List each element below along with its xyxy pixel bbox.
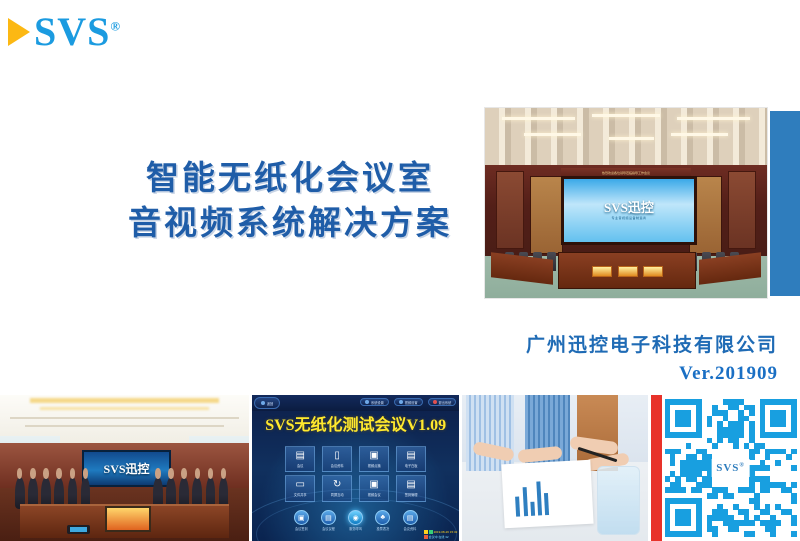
hero-conference-room-image: 热烈欢迎各位领导莅临指导工作会议 SVS迅控 专业音视频设备制造商 xyxy=(484,107,768,299)
ui-tile-label: 视频会议 xyxy=(368,492,381,497)
ui-dock-label: 投票表决 xyxy=(376,526,389,531)
ui-dock-service[interactable]: ◉ 服务呼叫 xyxy=(348,510,363,531)
hero-document-3 xyxy=(643,266,663,278)
document-icon: ▯ xyxy=(334,451,340,461)
ui-dock-vote[interactable]: ♣ 投票表决 xyxy=(375,510,390,531)
ui-dock-label: 服务呼叫 xyxy=(349,526,362,531)
ui-function-grid: ▤ 会议 ▯ 会议资料 ▣ 视频点播 ▤ 电子白板 xyxy=(285,446,426,501)
blue-accent-bar xyxy=(770,111,800,296)
chart-paper xyxy=(501,460,593,529)
panel-meeting-room: SVS迅控 xyxy=(0,395,249,541)
svs-logo: SVS® xyxy=(8,12,121,52)
qr-center-text: SVS xyxy=(716,462,739,474)
agenda-dock-icon: ▤ xyxy=(321,510,336,525)
logo-wordmark: SVS® xyxy=(34,12,121,52)
hero-wall-panel-right xyxy=(728,171,755,249)
ui-tile-whiteboard[interactable]: ▤ 电子白板 xyxy=(396,446,426,472)
hero-ceiling xyxy=(485,108,767,165)
title-line-2: 音视频系统解决方案 xyxy=(100,201,480,246)
qr-registered-icon: ® xyxy=(739,462,744,468)
ui-back-button-label: 返回 xyxy=(267,401,273,406)
ui-bottom-dock: ▣ 会议签到 ▤ 会议议程 ◉ 服务呼叫 ♣ 投票表决 xyxy=(269,506,443,535)
room-laptop xyxy=(105,506,151,532)
status-chip-3 xyxy=(424,535,428,539)
qr-code-container[interactable]: SVS® xyxy=(665,399,797,537)
ui-tile-meeting[interactable]: ▤ 会议 xyxy=(285,446,315,472)
ui-tile-files[interactable]: ▭ 文件共享 xyxy=(285,475,315,501)
ui-tile-label: 视频点播 xyxy=(368,463,381,468)
ui-topbar-actions: 系统设置 视频设置 退出系统 xyxy=(360,398,456,408)
ui-tile-signin[interactable]: ▤ 签到管理 xyxy=(396,475,426,501)
ui-topbar: 返回 系统设置 视频设置 退出系统 xyxy=(252,395,459,411)
company-name: 广州迅控电子科技有限公司 xyxy=(358,330,778,357)
ui-tile-label: 文件共享 xyxy=(294,492,307,497)
ui-dock-agenda[interactable]: ▤ 会议议程 xyxy=(321,510,336,531)
ui-background: 返回 系统设置 视频设置 退出系统 xyxy=(252,395,459,541)
service-dock-icon: ◉ xyxy=(348,510,363,525)
ui-system-settings-button[interactable]: 系统设置 xyxy=(360,398,389,406)
ui-dock-label: 会议签到 xyxy=(295,526,308,531)
ui-app-title: SVS无纸化测试会议V1.09 xyxy=(252,411,459,435)
title-line-1: 智能无纸化会议室 xyxy=(100,156,480,201)
hero-door-left xyxy=(530,176,563,254)
whiteboard-icon: ▤ xyxy=(406,451,415,461)
hero-led-screen: SVS迅控 专业音视频设备制造商 xyxy=(561,176,697,245)
hero-document-2 xyxy=(618,266,638,278)
ui-tile-video[interactable]: ▣ 视频点播 xyxy=(359,446,389,472)
share-icon: ↻ xyxy=(333,480,341,490)
panel-software-ui[interactable]: 返回 系统设置 视频设置 退出系统 xyxy=(252,395,459,541)
ui-back-button[interactable]: 返回 xyxy=(254,397,280,409)
ui-video-settings-button[interactable]: 视频设置 xyxy=(394,398,423,406)
panel-qr-code: SVS® xyxy=(651,395,800,541)
ui-exit-label: 退出系统 xyxy=(439,400,452,405)
registered-trademark-icon: ® xyxy=(110,19,121,34)
hero-screen-subtitle: 专业音视频设备制造商 xyxy=(611,216,646,220)
bottom-filmstrip: SVS迅控 xyxy=(0,395,800,541)
ui-tile-videoconf[interactable]: ▣ 视频会议 xyxy=(359,475,389,501)
ui-dock-label: 会议议程 xyxy=(322,526,335,531)
logo-text: SVS xyxy=(34,9,110,54)
ui-exit-button[interactable]: 退出系统 xyxy=(428,398,457,406)
vote-dock-icon: ♣ xyxy=(375,510,390,525)
qr-center-logo: SVS® xyxy=(711,459,750,477)
logo-triangle-icon xyxy=(8,18,30,46)
folder-icon: ▭ xyxy=(295,480,304,490)
status-chip-2 xyxy=(429,530,433,534)
docs-dock-icon: ▤ xyxy=(403,510,418,525)
room-terminal-device xyxy=(67,525,89,534)
ui-dock-signin[interactable]: ▣ 会议签到 xyxy=(294,510,309,531)
ui-system-settings-label: 系统设置 xyxy=(371,400,384,405)
ui-tile-label: 会议资料 xyxy=(331,463,344,468)
hero-document-1 xyxy=(592,266,612,278)
camera-icon: ▣ xyxy=(369,480,378,490)
hero-screen-title: SVS迅控 xyxy=(604,201,654,214)
panel-discussion-table xyxy=(462,395,647,541)
version-label: Ver.201909 xyxy=(358,363,778,385)
ui-video-settings-label: 视频设置 xyxy=(405,400,418,405)
ui-dock-docs[interactable]: ▤ 会议资料 xyxy=(403,510,418,531)
signin-icon: ▤ xyxy=(406,480,415,490)
ui-tile-label: 同屏互动 xyxy=(331,492,344,497)
ui-tile-label: 电子白板 xyxy=(405,463,418,468)
signin-dock-icon: ▣ xyxy=(294,510,309,525)
ui-status-line-2: 会议中 在线 32 xyxy=(429,535,449,539)
ui-tile-screenshare[interactable]: ↻ 同屏互动 xyxy=(322,475,352,501)
clipboard-icon: ▤ xyxy=(295,451,304,461)
ui-tile-materials[interactable]: ▯ 会议资料 xyxy=(322,446,352,472)
red-accent-bar xyxy=(651,395,662,541)
slide-root: SVS® 智能无纸化会议室 音视频系统解决方案 热烈欢迎各位领导莅临指导工作会议… xyxy=(0,0,800,541)
hero-wall-panel-left xyxy=(496,171,523,249)
ui-tile-label: 签到管理 xyxy=(405,492,418,497)
ui-status-line-1: 2019-08-26 15:32 xyxy=(434,530,458,534)
page-title: 智能无纸化会议室 音视频系统解决方案 xyxy=(100,156,480,246)
ui-tile-label: 会议 xyxy=(297,463,303,468)
ui-dock-label: 会议资料 xyxy=(404,526,417,531)
status-chip-1 xyxy=(424,530,428,534)
video-icon: ▣ xyxy=(369,451,378,461)
water-glass xyxy=(597,466,640,535)
room-screen-title: SVS迅控 xyxy=(104,460,150,477)
ui-status-readout: 2019-08-26 15:32 会议中 在线 32 xyxy=(424,530,458,539)
